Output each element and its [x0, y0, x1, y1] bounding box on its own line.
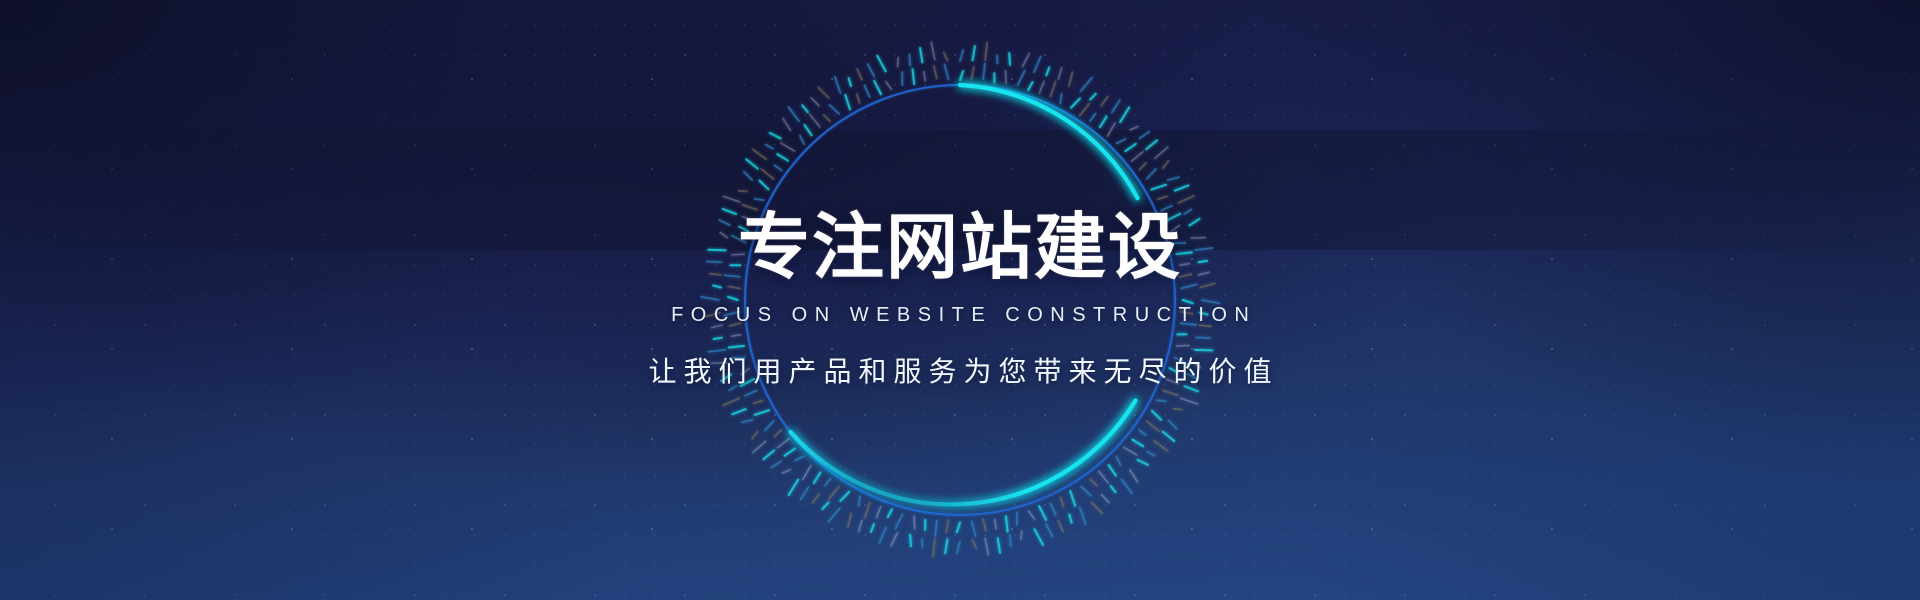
page-title: 专注网站建设 — [738, 210, 1182, 286]
hero-content: 专注网站建设 FOCUS ON WEBSITE CONSTRUCTION 让我们… — [0, 0, 1920, 600]
page-subtitle: FOCUS ON WEBSITE CONSTRUCTION — [664, 304, 1257, 327]
hero-banner: 专注网站建设 FOCUS ON WEBSITE CONSTRUCTION 让我们… — [0, 0, 1920, 600]
page-tagline: 让我们用产品和服务为您带来无尽的价值 — [641, 350, 1278, 390]
